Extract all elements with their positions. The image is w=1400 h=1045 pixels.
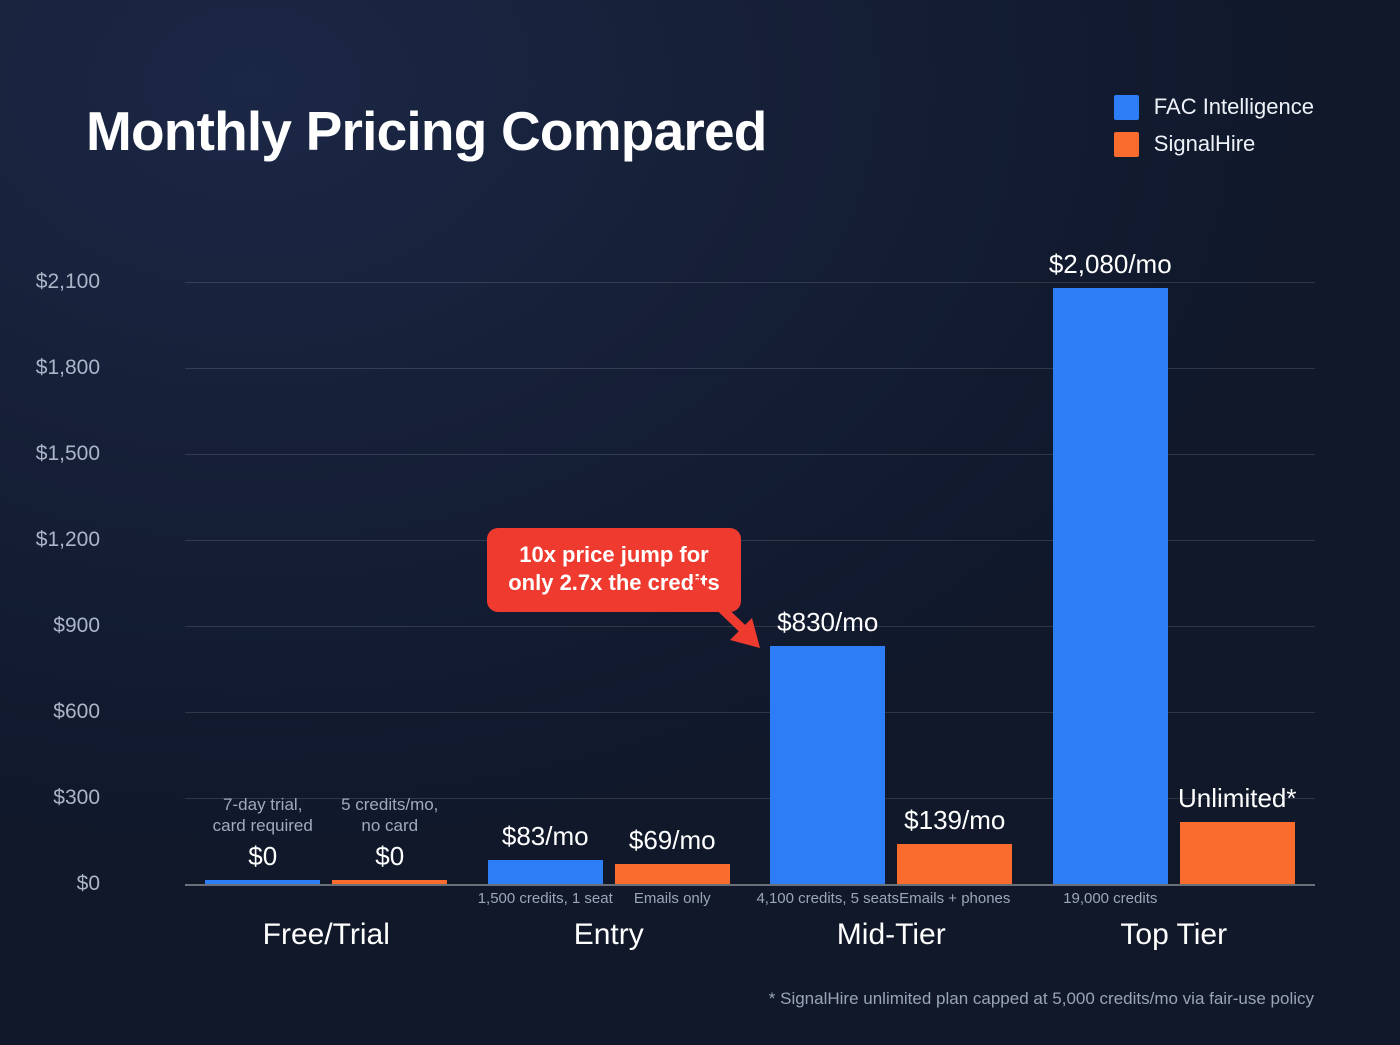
- y-axis-tick-label: $2,100: [0, 270, 100, 294]
- legend-swatch-icon: [1114, 132, 1139, 157]
- page-title: Monthly Pricing Compared: [86, 99, 767, 163]
- bar-group: $2,080/mo19,000 creditsUnlimited*Top Tie…: [1033, 282, 1316, 884]
- legend-item-label: FAC Intelligence: [1154, 94, 1314, 120]
- bar-value-label: $69/mo: [629, 825, 716, 856]
- bar-slot: $2,080/mo19,000 credits: [1053, 282, 1168, 884]
- bar-slot: $830/mo4,100 credits, 5 seats: [770, 282, 885, 884]
- y-axis-tick-label: $1,500: [0, 442, 100, 466]
- bar[interactable]: [205, 880, 320, 884]
- bar-slot: $139/moEmails + phones: [897, 282, 1012, 884]
- x-axis-category-label: Mid-Tier: [750, 918, 1033, 952]
- legend-item[interactable]: SignalHire: [1114, 131, 1256, 157]
- bar[interactable]: [1180, 822, 1295, 884]
- legend-swatch-icon: [1114, 95, 1139, 120]
- y-axis-tick-label: $0: [0, 872, 100, 896]
- x-axis-category-label: Entry: [468, 918, 751, 952]
- annotation-line-2: only 2.7x the credits: [503, 569, 725, 597]
- plot-area: $0$300$600$900$1,200$1,500$1,800$2,100 $…: [185, 282, 1315, 884]
- bar[interactable]: [332, 880, 447, 884]
- bar-sub-label: Emails only: [634, 890, 711, 907]
- bar-sub-label: Emails + phones: [899, 890, 1010, 907]
- bar-value-label: $0: [248, 841, 277, 872]
- bar-value-label: $83/mo: [502, 821, 589, 852]
- bar-value-label: $0: [375, 841, 404, 872]
- bar-slot: $05 credits/mo,no card: [332, 282, 447, 884]
- bar-group: $07-day trial,card required$05 credits/m…: [185, 282, 468, 884]
- y-axis-tick-label: $1,200: [0, 528, 100, 552]
- annotation-line-1: 10x price jump for: [503, 541, 725, 569]
- bar[interactable]: [615, 864, 730, 884]
- legend-item[interactable]: FAC Intelligence: [1114, 94, 1314, 120]
- bar-note-label: 7-day trial,card required: [213, 794, 313, 837]
- axis-baseline: [185, 884, 1315, 886]
- annotation-callout: 10x price jump for only 2.7x the credits: [487, 528, 741, 612]
- bar-group: $830/mo4,100 credits, 5 seats$139/moEmai…: [750, 282, 1033, 884]
- legend-item-label: SignalHire: [1154, 131, 1256, 157]
- bar[interactable]: [1053, 288, 1168, 884]
- bar-value-label: Unlimited*: [1178, 783, 1297, 814]
- bar-value-label: $2,080/mo: [1049, 249, 1172, 280]
- bar-value-label: $830/mo: [777, 607, 878, 638]
- x-axis-category-label: Top Tier: [1033, 918, 1316, 952]
- bar-sub-label: 4,100 credits, 5 seats: [756, 890, 899, 907]
- y-axis-tick-label: $900: [0, 614, 100, 638]
- y-axis-tick-label: $600: [0, 700, 100, 724]
- bar-note-label: 5 credits/mo,no card: [341, 794, 438, 837]
- footnote: * SignalHire unlimited plan capped at 5,…: [769, 989, 1314, 1009]
- y-axis-tick-label: $300: [0, 786, 100, 810]
- bar[interactable]: [770, 646, 885, 884]
- chart-legend: FAC IntelligenceSignalHire: [1114, 94, 1314, 157]
- bar-value-label: $139/mo: [904, 805, 1005, 836]
- bar-sub-label: 1,500 credits, 1 seat: [478, 890, 613, 907]
- y-axis-tick-label: $1,800: [0, 356, 100, 380]
- bar[interactable]: [897, 844, 1012, 884]
- bar[interactable]: [488, 860, 603, 884]
- bar-sub-label: 19,000 credits: [1063, 890, 1157, 907]
- bar-slot: Unlimited*: [1180, 282, 1295, 884]
- bar-slot: $07-day trial,card required: [205, 282, 320, 884]
- x-axis-category-label: Free/Trial: [185, 918, 468, 952]
- chart-canvas: Monthly Pricing Compared FAC Intelligenc…: [0, 0, 1400, 1045]
